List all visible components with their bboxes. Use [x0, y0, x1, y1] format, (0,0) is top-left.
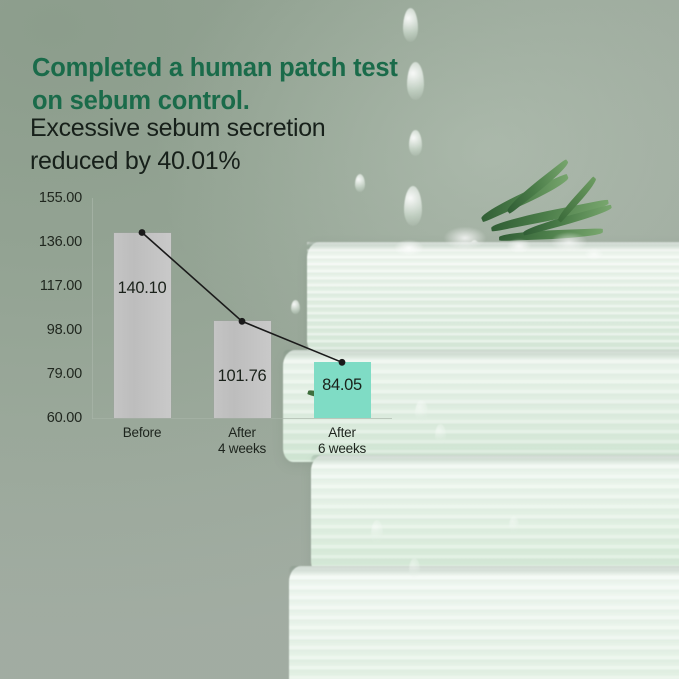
pad-striation — [289, 566, 679, 679]
water-splash — [369, 218, 619, 266]
page-subtitle: Excessive sebum secretion reduced by 40.… — [30, 112, 450, 178]
trend-line-path — [142, 233, 342, 363]
infographic-canvas: Completed a human patch test on sebum co… — [0, 0, 679, 679]
leaf-icon — [504, 159, 571, 214]
headline-line-1: Completed a human patch test — [32, 52, 452, 85]
water-droplet-icon — [371, 520, 383, 544]
trend-line-marker — [239, 318, 246, 325]
water-droplet-icon — [415, 400, 428, 422]
subhead-line-1: Excessive sebum secretion — [30, 112, 450, 145]
page-title: Completed a human patch test on sebum co… — [32, 52, 452, 117]
water-droplet-icon — [409, 558, 420, 578]
water-droplet-icon — [509, 516, 519, 534]
cotton-pad-layer — [289, 566, 679, 679]
chart-trend-line — [0, 185, 400, 475]
water-droplet-icon — [403, 8, 418, 42]
trend-line-marker — [339, 359, 346, 366]
water-droplet-icon — [435, 424, 446, 444]
trend-line-marker — [139, 229, 146, 236]
subhead-line-2: reduced by 40.01% — [30, 145, 450, 178]
pad-top-shadow — [289, 566, 679, 576]
sebum-reduction-chart: 155.00136.00117.0098.0079.0060.00 140.10… — [0, 185, 400, 475]
